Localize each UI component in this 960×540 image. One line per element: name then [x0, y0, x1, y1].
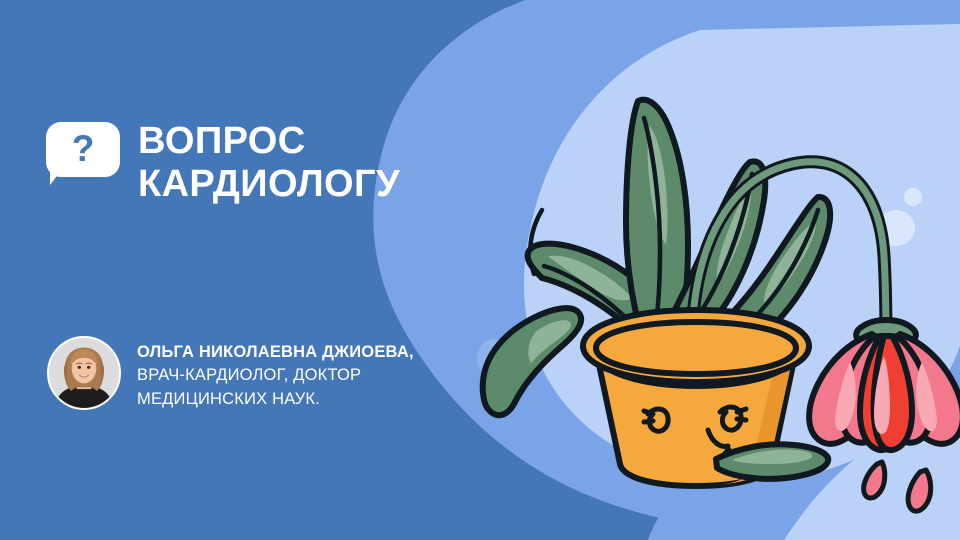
headline-block: ? ВОПРОС КАРДИОЛОГУ [46, 118, 400, 206]
byline-text: ОЛЬГА НИКОЛАЕВНА ДЖИОЕВА, ВРАЧ-КАРДИОЛОГ… [137, 332, 414, 411]
avatar-portrait [49, 338, 119, 408]
question-mark-glyph: ? [46, 122, 120, 177]
slide-canvas: ? ВОПРОС КАРДИОЛОГУ [0, 0, 960, 540]
falling-petal-1 [864, 462, 885, 498]
speaker-name: ОЛЬГА НИКОЛАЕВНА ДЖИОЕВА, [137, 341, 414, 364]
falling-petal-2 [908, 470, 931, 511]
avatar [47, 336, 121, 410]
wilting-plant-illustration [420, 60, 960, 480]
pot-rim [583, 310, 809, 382]
question-speech-bubble-icon: ? [46, 122, 120, 184]
byline-block: ОЛЬГА НИКОЛАЕВНА ДЖИОЕВА, ВРАЧ-КАРДИОЛОГ… [47, 332, 414, 411]
page-title: ВОПРОС КАРДИОЛОГУ [138, 118, 400, 206]
speaker-role: ВРАЧ-КАРДИОЛОГ, ДОКТОР МЕДИЦИНСКИХ НАУК. [137, 364, 414, 411]
